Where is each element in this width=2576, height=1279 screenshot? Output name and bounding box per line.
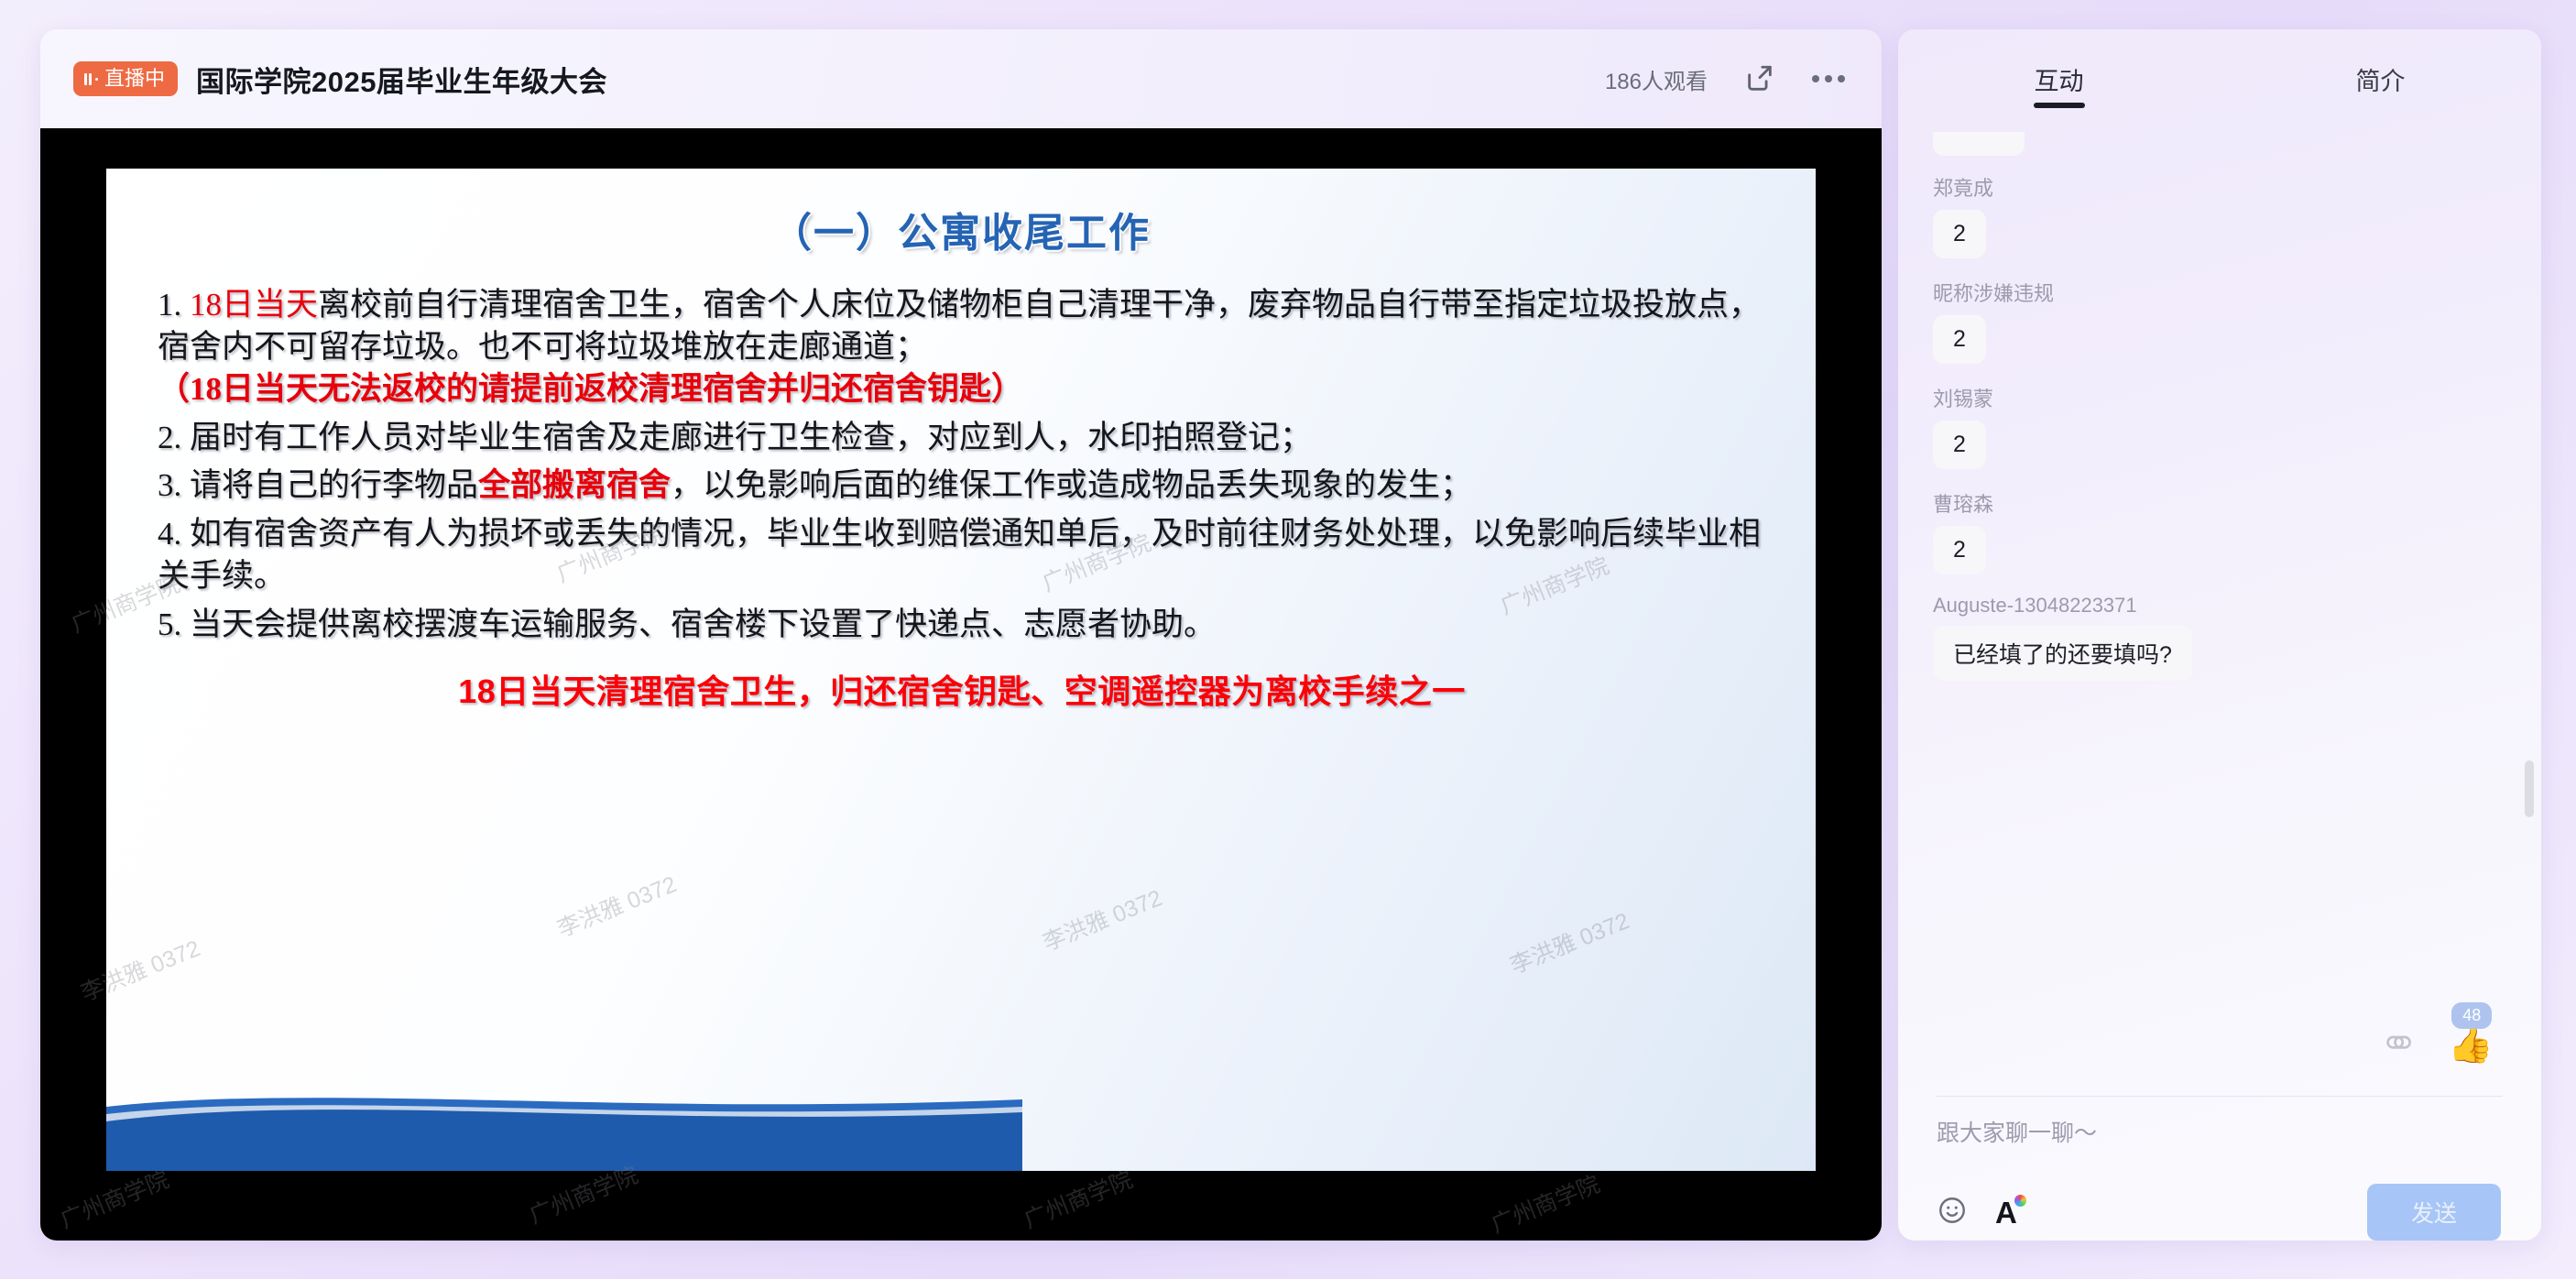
chat-message: 郑竟成 2 <box>1933 172 2505 258</box>
emoji-smile-icon[interactable] <box>1937 1195 1968 1230</box>
player-card: 直播中 国际学院2025届毕业生年级大会 186人观看 （一）公寓收尾工作 <box>40 29 1882 1241</box>
slide-wave-decoration <box>106 1061 1022 1171</box>
chat-message-text: 已经填了的还要填吗? <box>1933 626 2192 681</box>
video-stage[interactable]: （一）公寓收尾工作 1. 18日当天离校前自行清理宿舍卫生，宿舍个人床位及储物柜… <box>40 128 1882 1241</box>
slide-item-number: 3. <box>158 467 181 503</box>
chat-input[interactable] <box>1937 1120 2501 1147</box>
viewer-count: 186人观看 <box>1605 63 1708 95</box>
watermark: 广州商学院 <box>1486 1166 1604 1240</box>
header-actions: 186人观看 <box>1605 63 1845 95</box>
thumbs-up-glyph: 👍 <box>2448 1024 2494 1065</box>
chat-composer: A 发送 <box>1898 1097 2541 1241</box>
chat-panel: 互动 简介 郑竟成 2 昵称涉嫌违规 2 刘锡蒙 2 曹瑢森 <box>1898 29 2541 1241</box>
slide-item: 4. 如有宿舍资产有人为损坏或丢失的情况，毕业生收到赔偿通知单后，及时前往财务处… <box>158 513 1766 597</box>
tab-label: 简介 <box>2356 61 2406 97</box>
watermark: 广州商学院 <box>1019 1162 1137 1235</box>
stream-title: 国际学院2025届毕业生年级大会 <box>196 59 607 100</box>
chat-message: 曹瑢森 2 <box>1933 488 2505 574</box>
tab-intro[interactable]: 简介 <box>2220 29 2541 128</box>
slide-item-number: 2. <box>158 420 181 455</box>
chat-message-user: 曹瑢森 <box>1933 488 2505 518</box>
external-link-icon[interactable] <box>1744 63 1775 94</box>
slide-item-number: 1. <box>158 287 181 322</box>
reaction-bar: 48 👍 <box>1898 993 2541 1096</box>
slide-item-text: 全部搬离宿舍 <box>478 467 671 503</box>
app-root: 直播中 国际学院2025届毕业生年级大会 186人观看 （一）公寓收尾工作 <box>0 0 2576 1279</box>
chat-message-text: 2 <box>1933 526 1986 574</box>
slide-title: （一）公寓收尾工作 <box>106 200 1816 258</box>
chat-message-text: 2 <box>1933 421 1986 469</box>
composer-icon-group: A <box>1937 1195 2017 1230</box>
slide-item-text: ，以免影响后面的维保工作或造成物品丢失现象的发生； <box>671 467 1472 503</box>
chat-message: 刘锡蒙 2 <box>1933 383 2505 469</box>
live-status-badge: 直播中 <box>73 61 178 96</box>
tab-active-indicator <box>2034 103 2085 108</box>
slide-body: 1. 18日当天离校前自行清理宿舍卫生，宿舍个人床位及储物柜自己清理干净，废弃物… <box>158 284 1766 713</box>
chat-message-user: Auguste-13048223371 <box>1933 594 2505 618</box>
chat-tabs: 互动 简介 <box>1898 29 2541 128</box>
live-badge-label: 直播中 <box>104 69 165 89</box>
slide-conclusion: 18日当天清理宿舍卫生，归还宿舍钥匙、空调遥控器为离校手续之一 <box>158 670 1766 713</box>
presentation-slide: （一）公寓收尾工作 1. 18日当天离校前自行清理宿舍卫生，宿舍个人床位及储物柜… <box>106 169 1816 1171</box>
more-options-icon[interactable] <box>1812 75 1845 82</box>
slide-item: 5. 当天会提供离校摆渡车运输服务、宿舍楼下设置了快递点、志愿者协助。 <box>158 604 1766 646</box>
slide-item-number: 4. <box>158 516 181 552</box>
slide-item-text: 当天会提供离校摆渡车运输服务、宿舍楼下设置了快递点、志愿者协助。 <box>190 607 1216 642</box>
tab-interaction[interactable]: 互动 <box>1898 29 2220 128</box>
chat-message-user: 郑竟成 <box>1933 172 2505 202</box>
clipped-message-bubble <box>1933 132 2025 156</box>
watermark: 广州商学院 <box>55 1162 173 1235</box>
text-style-icon[interactable]: A <box>1995 1197 2017 1228</box>
slide-item: 2. 届时有工作人员对毕业生宿舍及走廊进行卫生检查，对应到人，水印拍照登记； <box>158 417 1766 459</box>
chat-message-text: 2 <box>1933 210 1986 258</box>
chat-scrollbar-thumb[interactable] <box>2525 760 2534 817</box>
slide-item-text: 如有宿舍资产有人为损坏或丢失的情况，毕业生收到赔偿通知单后，及时前往财务处处理，… <box>158 516 1761 594</box>
link-icon[interactable] <box>2384 1025 2418 1065</box>
thumbs-up-icon[interactable]: 48 👍 <box>2448 1026 2494 1063</box>
chat-message-user: 刘锡蒙 <box>1933 383 2505 412</box>
chat-message-text: 2 <box>1933 315 1986 364</box>
chat-message-list[interactable]: 郑竟成 2 昵称涉嫌违规 2 刘锡蒙 2 曹瑢森 2 Auguste-13048… <box>1898 128 2541 993</box>
send-button[interactable]: 发送 <box>2367 1184 2501 1241</box>
slide-item-number: 5. <box>158 607 181 642</box>
like-count-badge: 48 <box>2451 1002 2492 1029</box>
chat-message-user: 昵称涉嫌违规 <box>1933 278 2505 307</box>
slide-item-text: （18日当天无法返校的请提前返校清理宿舍并归还宿舍钥匙） <box>158 371 1023 407</box>
tab-label: 互动 <box>2035 61 2084 97</box>
live-bars-icon <box>84 73 98 85</box>
player-header: 直播中 国际学院2025届毕业生年级大会 186人观看 <box>40 29 1882 128</box>
chat-message: Auguste-13048223371 已经填了的还要填吗? <box>1933 594 2505 681</box>
slide-item-text: 届时有工作人员对毕业生宿舍及走廊进行卫生检查，对应到人，水印拍照登记； <box>190 420 1312 455</box>
slide-item-text: 离校前自行清理宿舍卫生，宿舍个人床位及储物柜自己清理干净，废弃物品自行带至指定垃… <box>158 287 1761 365</box>
composer-actions: A 发送 <box>1937 1184 2501 1241</box>
slide-item: 3. 请将自己的行李物品全部搬离宿舍，以免影响后面的维保工作或造成物品丢失现象的… <box>158 465 1766 507</box>
slide-item: 1. 18日当天离校前自行清理宿舍卫生，宿舍个人床位及储物柜自己清理干净，废弃物… <box>158 284 1766 410</box>
chat-message: 昵称涉嫌违规 2 <box>1933 278 2505 364</box>
slide-item-text: 请将自己的行李物品 <box>190 467 478 503</box>
slide-item-text: 18日当天 <box>190 287 318 322</box>
